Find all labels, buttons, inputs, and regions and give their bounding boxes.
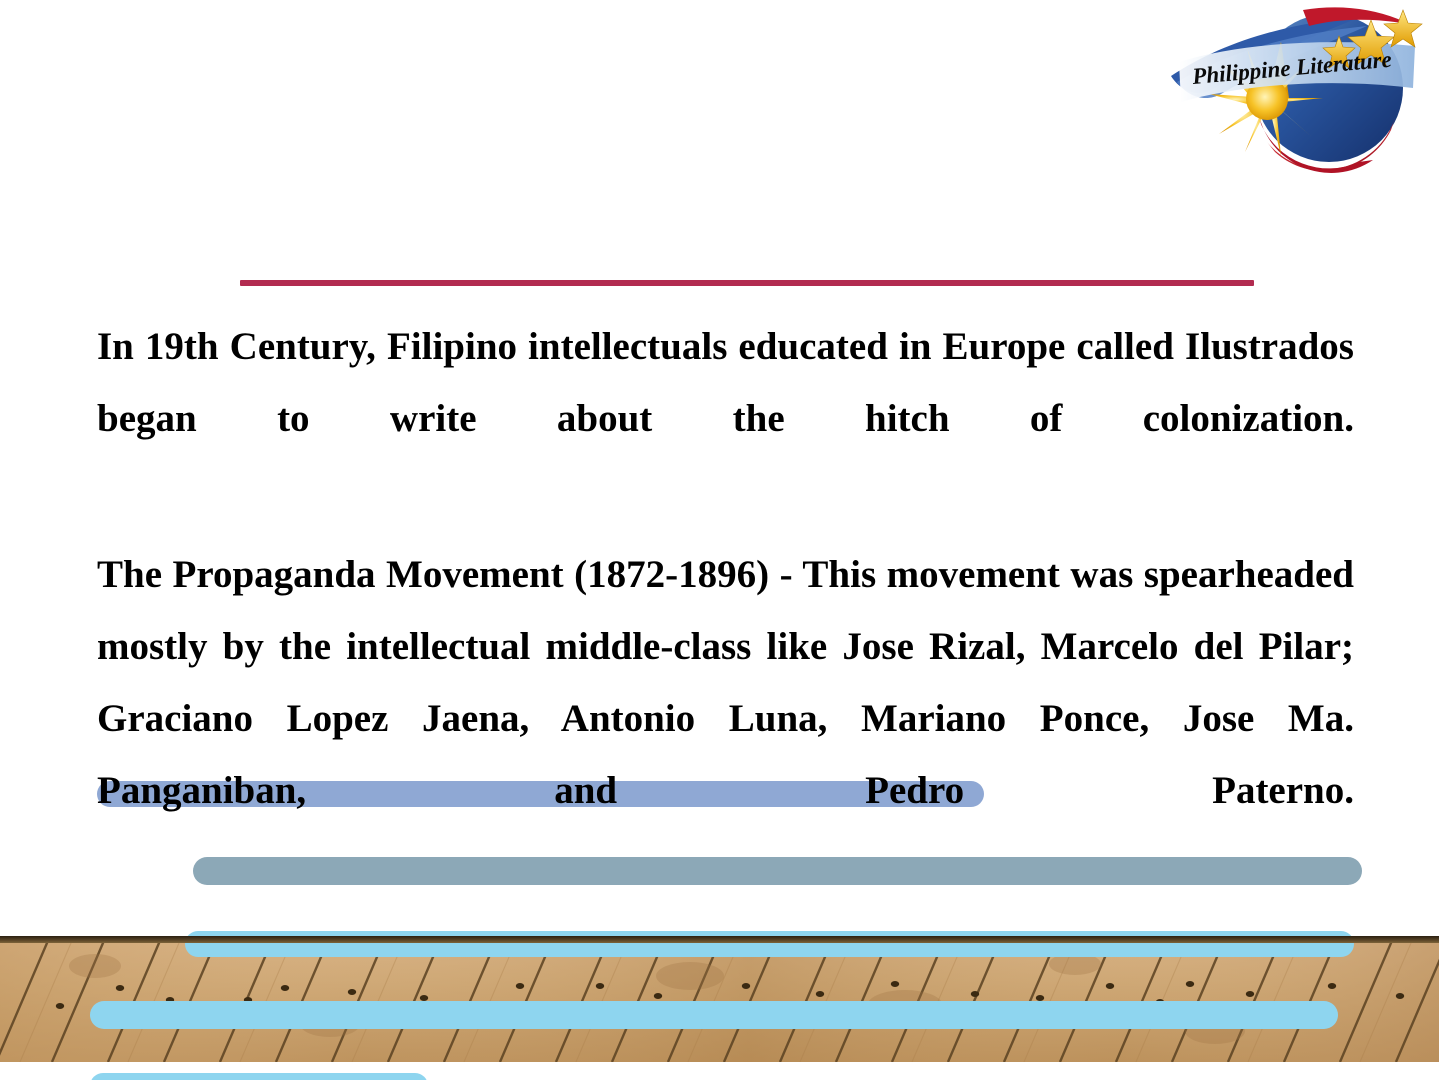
wood-plank-floor	[0, 936, 1439, 1062]
paragraph-propaganda: The Propaganda Movement (1872-1896) - Th…	[97, 539, 1354, 899]
paragraph-intro-text: In 19th Century, Filipino intellectuals …	[97, 325, 1354, 440]
slide: Philippine Literature In 19th Century, F…	[0, 0, 1439, 1080]
highlight-line-2	[193, 857, 1362, 885]
divider-rule	[240, 280, 1254, 286]
highlight-line-5	[90, 1073, 428, 1080]
slide-content: In 19th Century, Filipino intellectuals …	[97, 311, 1354, 899]
segment-movement-title: The Propaganda Movement (1872-1896)	[97, 553, 769, 596]
segment-this-movement-was: - This movement was	[769, 553, 1144, 596]
segment-like: like	[751, 625, 842, 668]
paragraph-intro: In 19th Century, Filipino intellectuals …	[97, 311, 1354, 527]
philippine-literature-logo: Philippine Literature	[1163, 2, 1431, 174]
floor-top-shadow	[0, 936, 1439, 943]
